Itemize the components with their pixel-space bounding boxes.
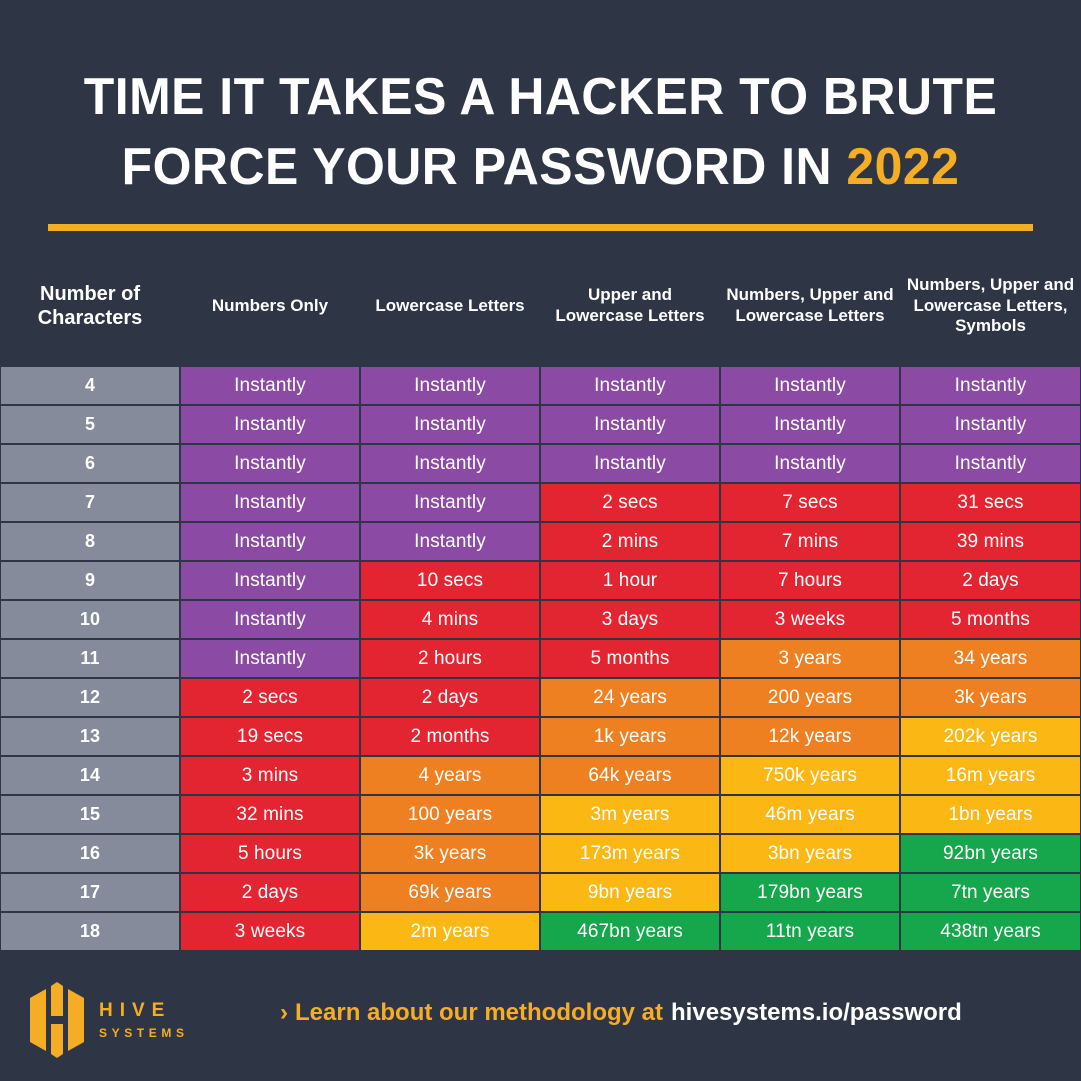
cell-crack-time: 32 mins [180,795,360,834]
column-header-numbers-only: Numbers Only [180,252,360,360]
cell-crack-time: Instantly [180,561,360,600]
cell-crack-time: 24 years [540,678,720,717]
table-row: 11Instantly2 hours5 months3 years34 year… [0,639,1081,678]
logo-text-systems: SYSTEMS [99,1027,189,1040]
cell-crack-time: Instantly [180,639,360,678]
cell-crack-time: 2 secs [180,678,360,717]
cell-character-count: 13 [0,717,180,756]
methodology-link-label: Learn about our methodology at [295,999,663,1027]
cell-crack-time: 438tn years [900,912,1081,951]
cell-character-count: 8 [0,522,180,561]
column-header-number-of-characters: Number of Characters [0,252,180,360]
cell-crack-time: 69k years [360,873,540,912]
infographic-page: TIME IT TAKES A HACKER TO BRUTE FORCE YO… [0,0,1081,1081]
cell-crack-time: Instantly [360,483,540,522]
cell-character-count: 5 [0,405,180,444]
table-row: 6InstantlyInstantlyInstantlyInstantlyIns… [0,444,1081,483]
hive-systems-logo[interactable]: HIVE SYSTEMS [26,975,189,1065]
cell-crack-time: 1 hour [540,561,720,600]
table-row: 10Instantly4 mins3 days3 weeks5 months [0,600,1081,639]
cell-character-count: 7 [0,483,180,522]
cell-crack-time: 7 mins [720,522,900,561]
password-strength-table: 4InstantlyInstantlyInstantlyInstantlyIns… [0,366,1081,951]
cell-crack-time: 2 days [180,873,360,912]
cell-character-count: 6 [0,444,180,483]
cell-crack-time: Instantly [900,444,1081,483]
table-row: 1532 mins100 years3m years46m years1bn y… [0,795,1081,834]
table-row: 7InstantlyInstantly2 secs7 secs31 secs [0,483,1081,522]
cell-crack-time: 3 weeks [180,912,360,951]
cell-character-count: 12 [0,678,180,717]
title-line-2-prefix: FORCE YOUR PASSWORD IN [122,138,847,196]
cell-crack-time: 9bn years [540,873,720,912]
cell-crack-time: Instantly [180,405,360,444]
cell-crack-time: Instantly [540,405,720,444]
cell-crack-time: 10 secs [360,561,540,600]
chevron-right-icon: › [280,1001,288,1025]
cell-crack-time: Instantly [900,405,1081,444]
cell-crack-time: 2 months [360,717,540,756]
cell-crack-time: Instantly [720,444,900,483]
cell-crack-time: 179bn years [720,873,900,912]
cell-crack-time: Instantly [720,405,900,444]
cell-crack-time: 200 years [720,678,900,717]
cell-crack-time: 1bn years [900,795,1081,834]
cell-crack-time: 3k years [360,834,540,873]
logo-wordmark: HIVE SYSTEMS [99,1001,189,1040]
methodology-link-url: hivesystems.io/password [671,999,962,1027]
cell-character-count: 14 [0,756,180,795]
table-row: 172 days69k years9bn years179bn years7tn… [0,873,1081,912]
cell-crack-time: Instantly [180,483,360,522]
cell-crack-time: 750k years [720,756,900,795]
column-header-lowercase-letters: Lowercase Letters [360,252,540,360]
cell-character-count: 4 [0,366,180,405]
table-row: 5InstantlyInstantlyInstantlyInstantlyIns… [0,405,1081,444]
table-row: 1319 secs2 months1k years12k years202k y… [0,717,1081,756]
title-year: 2022 [846,138,959,196]
column-header-numbers-upper-lowercase-symbols: Numbers, Upper and Lowercase Letters, Sy… [900,252,1081,360]
title-divider-rule [48,224,1033,231]
methodology-link[interactable]: › Learn about our methodology at hivesys… [280,995,962,1031]
cell-crack-time: 92bn years [900,834,1081,873]
cell-crack-time: 2m years [360,912,540,951]
cell-crack-time: Instantly [360,405,540,444]
cell-crack-time: 3 mins [180,756,360,795]
table-row: 143 mins4 years64k years750k years16m ye… [0,756,1081,795]
cell-crack-time: Instantly [540,366,720,405]
cell-crack-time: 7 secs [720,483,900,522]
cell-crack-time: 16m years [900,756,1081,795]
cell-crack-time: 2 mins [540,522,720,561]
cell-crack-time: 31 secs [900,483,1081,522]
cell-crack-time: Instantly [900,366,1081,405]
cell-crack-time: 3 days [540,600,720,639]
column-header-numbers-upper-and-lowercase-letters: Numbers, Upper and Lowercase Letters [720,252,900,360]
cell-crack-time: 3m years [540,795,720,834]
cell-character-count: 9 [0,561,180,600]
cell-crack-time: 4 mins [360,600,540,639]
cell-crack-time: 467bn years [540,912,720,951]
table-row: 183 weeks2m years467bn years11tn years43… [0,912,1081,951]
cell-crack-time: Instantly [180,366,360,405]
table-row: 9Instantly10 secs1 hour7 hours2 days [0,561,1081,600]
title-line-2: FORCE YOUR PASSWORD IN 2022 [22,132,1060,202]
cell-crack-time: 5 months [900,600,1081,639]
logo-text-hive: HIVE [99,1001,189,1021]
table-header-row: Number of Characters Numbers Only Lowerc… [0,252,1081,360]
cell-crack-time: 3 years [720,639,900,678]
cell-crack-time: 5 hours [180,834,360,873]
cell-crack-time: Instantly [360,366,540,405]
table-row: 4InstantlyInstantlyInstantlyInstantlyIns… [0,366,1081,405]
cell-character-count: 15 [0,795,180,834]
cell-crack-time: 19 secs [180,717,360,756]
page-title: TIME IT TAKES A HACKER TO BRUTE FORCE YO… [0,62,1081,202]
cell-crack-time: 34 years [900,639,1081,678]
cell-crack-time: Instantly [180,444,360,483]
cell-crack-time: Instantly [540,444,720,483]
cell-crack-time: 12k years [720,717,900,756]
column-header-upper-and-lowercase-letters: Upper and Lowercase Letters [540,252,720,360]
table-row: 165 hours3k years173m years3bn years92bn… [0,834,1081,873]
cell-crack-time: 7tn years [900,873,1081,912]
cell-crack-time: Instantly [360,522,540,561]
cell-character-count: 16 [0,834,180,873]
cell-crack-time: 4 years [360,756,540,795]
cell-crack-time: Instantly [180,600,360,639]
cell-crack-time: 3 weeks [720,600,900,639]
table-row: 122 secs2 days24 years200 years3k years [0,678,1081,717]
cell-character-count: 17 [0,873,180,912]
cell-crack-time: 5 months [540,639,720,678]
hive-hex-logo-icon [26,982,88,1058]
cell-crack-time: 2 secs [540,483,720,522]
cell-crack-time: 2 hours [360,639,540,678]
cell-crack-time: 46m years [720,795,900,834]
cell-character-count: 10 [0,600,180,639]
cell-crack-time: 11tn years [720,912,900,951]
cell-crack-time: Instantly [180,522,360,561]
title-line-1: TIME IT TAKES A HACKER TO BRUTE [22,62,1060,132]
cell-crack-time: Instantly [720,366,900,405]
cell-crack-time: 3k years [900,678,1081,717]
cell-crack-time: 1k years [540,717,720,756]
cell-crack-time: 64k years [540,756,720,795]
cell-crack-time: 202k years [900,717,1081,756]
cell-crack-time: Instantly [360,444,540,483]
cell-crack-time: 39 mins [900,522,1081,561]
cell-crack-time: 2 days [900,561,1081,600]
cell-crack-time: 2 days [360,678,540,717]
cell-character-count: 11 [0,639,180,678]
cell-character-count: 18 [0,912,180,951]
cell-crack-time: 7 hours [720,561,900,600]
cell-crack-time: 100 years [360,795,540,834]
cell-crack-time: 173m years [540,834,720,873]
table-row: 8InstantlyInstantly2 mins7 mins39 mins [0,522,1081,561]
cell-crack-time: 3bn years [720,834,900,873]
